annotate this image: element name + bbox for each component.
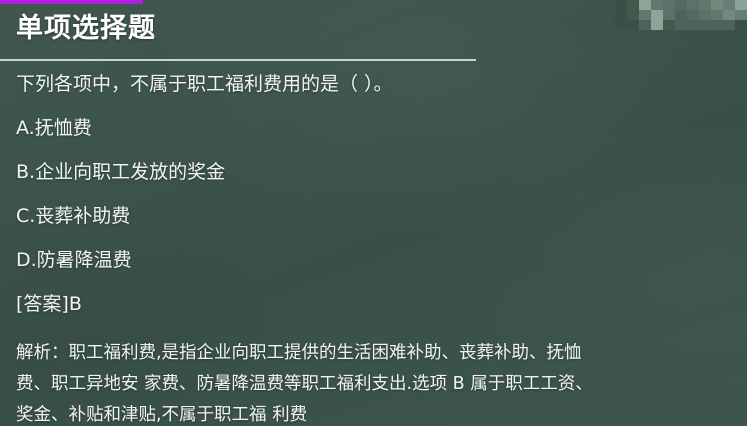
question-stem: 下列各项中，不属于职工福利费用的是（ ）。 xyxy=(16,72,743,96)
page-title: 单项选择题 xyxy=(16,12,156,46)
mosaic-block xyxy=(639,0,651,10)
header-divider xyxy=(0,59,476,61)
mosaic-block xyxy=(675,20,687,30)
mosaic-block xyxy=(687,20,699,30)
mosaic-block xyxy=(651,10,663,20)
mosaic-block xyxy=(687,10,699,20)
question-slide: 单项选择题 下列各项中，不属于职工福利费用的是（ ）。 A.抚恤费 B.企业向职… xyxy=(0,0,747,426)
explanation-line: 解析：职工福利费,是指企业向职工提供的生活困难补助、丧葬补助、抚恤 xyxy=(16,338,743,369)
mosaic-block xyxy=(615,20,627,30)
mosaic-block xyxy=(699,10,711,20)
mosaic-block xyxy=(735,0,747,10)
mosaic-block xyxy=(687,0,699,10)
mosaic-block xyxy=(723,0,735,10)
question-body: 下列各项中，不属于职工福利费用的是（ ）。 A.抚恤费 B.企业向职工发放的奖金… xyxy=(16,72,743,426)
mosaic-block xyxy=(651,0,663,10)
mosaic-watermark xyxy=(615,0,747,30)
mosaic-block xyxy=(663,0,675,10)
mosaic-block xyxy=(723,20,735,30)
mosaic-block xyxy=(675,0,687,10)
explanation-line: 奖金、补贴和津贴,不属于职工福 利费 xyxy=(16,400,743,426)
answer-label: [答案]B xyxy=(16,292,743,316)
mosaic-block xyxy=(627,0,639,10)
mosaic-block xyxy=(639,10,651,20)
option-c[interactable]: C.丧葬补助费 xyxy=(16,204,743,228)
mosaic-block xyxy=(663,20,675,30)
mosaic-block xyxy=(735,20,747,30)
mosaic-block xyxy=(627,10,639,20)
mosaic-block xyxy=(711,20,723,30)
mosaic-block xyxy=(615,10,627,20)
mosaic-block xyxy=(675,10,687,20)
mosaic-block xyxy=(663,10,675,20)
explanation-block: 解析：职工福利费,是指企业向职工提供的生活困难补助、丧葬补助、抚恤 费、职工异地… xyxy=(16,338,743,426)
explanation-line: 费、职工异地安 家费、防暑降温费等职工福利支出.选项 B 属于职工工资、 xyxy=(16,369,743,400)
mosaic-block xyxy=(639,20,651,30)
mosaic-block xyxy=(711,0,723,10)
mosaic-block xyxy=(711,10,723,20)
mosaic-block xyxy=(723,10,735,20)
option-a[interactable]: A.抚恤费 xyxy=(16,116,743,140)
purple-accent-bar xyxy=(0,0,143,4)
mosaic-block xyxy=(699,20,711,30)
mosaic-block xyxy=(699,0,711,10)
mosaic-block xyxy=(651,20,663,30)
option-d[interactable]: D.防暑降温费 xyxy=(16,248,743,272)
mosaic-block xyxy=(735,10,747,20)
mosaic-block xyxy=(615,0,627,10)
option-b[interactable]: B.企业向职工发放的奖金 xyxy=(16,160,743,184)
mosaic-block xyxy=(627,20,639,30)
